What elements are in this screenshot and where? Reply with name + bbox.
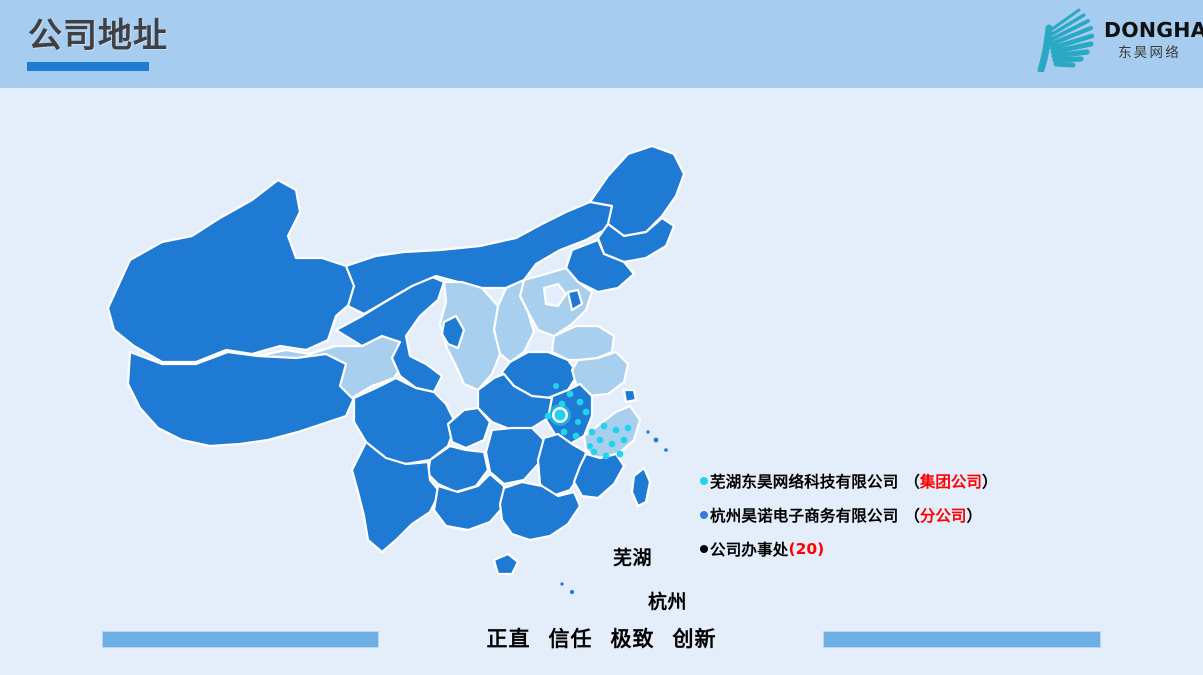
map-label-wuhu: 芜湖 (613, 543, 652, 570)
slogan-word-3: 极致 (611, 627, 655, 651)
legend-offices-count: (20) (789, 540, 825, 558)
legend-tag-text: 集团公司 (920, 473, 982, 491)
paren-open: （ (904, 473, 920, 491)
legend-company-name: 杭州昊诺电子商务有限公司 (710, 504, 898, 526)
logo-english-name: DONGHAO (1104, 20, 1198, 41)
feather-wing-icon (1032, 6, 1104, 72)
legend-item-offices: 公司办事处 (20) (700, 532, 1030, 566)
footer-slogan: 正直信任极致创新 (0, 623, 1203, 653)
legend-dot-icon (700, 545, 708, 553)
map-label-hangzhou: 杭州 (648, 587, 687, 614)
slogan-word-2: 信任 (549, 627, 593, 651)
company-logo: DONGHAO 东昊网络 (1012, 4, 1197, 76)
legend-item-branch-company: 杭州昊诺电子商务有限公司 （分公司） (700, 498, 1030, 532)
legend-company-name: 芜湖东昊网络科技有限公司 (710, 470, 898, 492)
legend-dot-icon (700, 477, 708, 485)
legend-tag: （集团公司） (904, 470, 997, 492)
logo-chinese-name: 东昊网络 (1104, 47, 1198, 61)
headquarters-marker (549, 404, 571, 426)
slogan-word-1: 正直 (487, 627, 531, 651)
legend-item-group-company: 芜湖东昊网络科技有限公司 （集团公司） (700, 464, 1030, 498)
china-map[interactable]: 芜湖 杭州 (100, 140, 720, 610)
legend-offices-label: 公司办事处 (710, 538, 789, 560)
slide-company-address: 公司地址 DONGHAO 东昊网络 (0, 0, 1203, 675)
legend-tag-text: 分公司 (920, 507, 967, 525)
slogan-word-4: 创新 (673, 627, 717, 651)
title-underline (27, 62, 149, 71)
paren-close: ） (966, 507, 982, 525)
legend-dot-icon (700, 511, 708, 519)
paren-close: ） (982, 473, 998, 491)
legend: 芜湖东昊网络科技有限公司 （集团公司） 杭州昊诺电子商务有限公司 （分公司） 公… (700, 464, 1030, 566)
logo-text: DONGHAO 东昊网络 (1104, 20, 1198, 60)
paren-open: （ (904, 507, 920, 525)
page-title: 公司地址 (28, 18, 168, 55)
legend-tag: （分公司） (904, 504, 982, 526)
